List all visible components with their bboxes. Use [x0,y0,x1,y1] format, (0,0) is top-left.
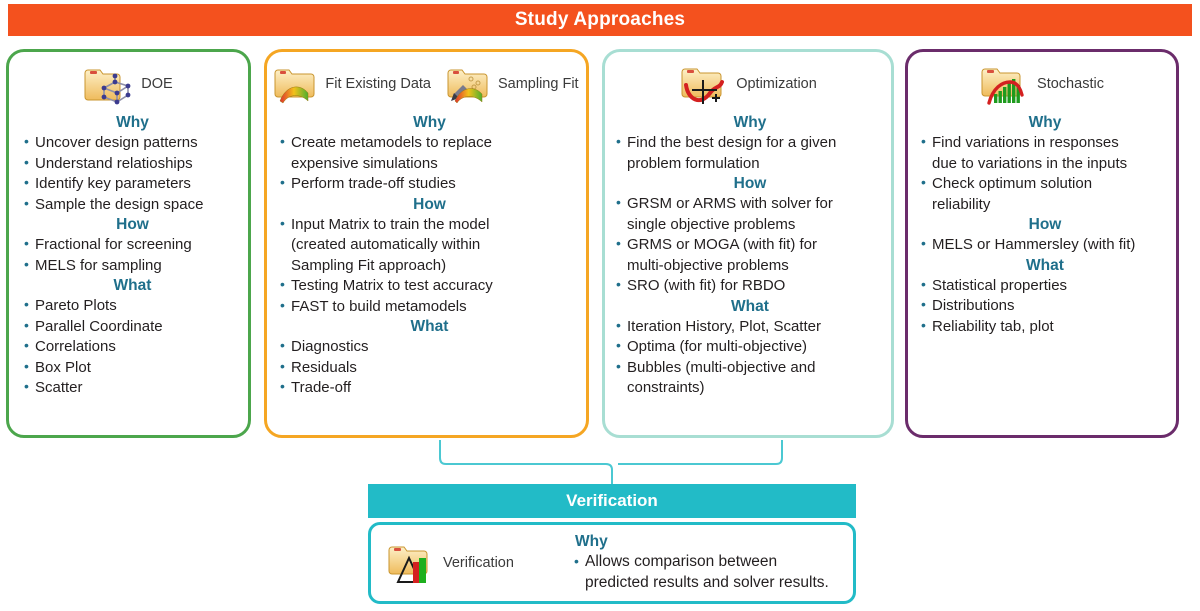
opt-why-list: Find the best design for a given problem… [615,133,885,173]
opt-how-list: GRSM or ARMS with solver for single obje… [615,194,885,296]
list-item: Iteration History, Plot, Scatter [615,317,885,337]
list-item-continuation: Sampling Fit approach) [279,256,580,276]
opt-what-list: Iteration History, Plot, Scatter Optima … [615,317,885,398]
list-item-continuation: constraints) [615,378,885,398]
opt-how-heading: How [615,175,885,193]
fit-how-heading: How [279,196,580,214]
page-title: Study Approaches [515,9,685,31]
list-item: Allows comparison between [573,552,845,572]
list-item: GRMS or MOGA (with fit) for [615,235,885,255]
verification-icon-label: Verification [443,555,514,571]
card-body-stochastic: Why Find variations in responses due to … [908,114,1176,341]
list-item-continuation: reliability [920,195,1170,215]
doe-icon-group: DOE [84,62,172,106]
fit-why-heading: Why [279,114,580,132]
card-header-stochastic: Stochastic [908,52,1176,112]
fit-why-list: Create metamodels to replace expensive s… [279,133,580,194]
list-item: FAST to build metamodels [279,297,580,317]
fit-existing-data-icon-label: Fit Existing Data [325,76,431,92]
list-item-continuation: due to variations in the inputs [920,154,1170,174]
connector-bracket [0,432,1200,492]
list-item: Find the best design for a given [615,133,885,153]
optimization-folder-icon [679,62,731,106]
verification-title-bar: Verification [368,484,856,518]
list-item: Pareto Plots [23,296,242,316]
sto-why-list: Find variations in responses due to vari… [920,133,1170,214]
list-item: Sample the design space [23,195,242,215]
list-item-continuation: predicted results and solver results. [573,573,845,593]
fit-what-list: Diagnostics Residuals Trade-off [279,337,580,398]
list-item: Trade-off [279,378,580,398]
card-header-fit: Fit Existing Data [267,52,586,112]
list-item: Uncover design patterns [23,133,242,153]
verification-title: Verification [566,491,658,511]
verification-why-heading: Why [575,533,845,551]
list-item: Testing Matrix to test accuracy [279,276,580,296]
card-header-optimization: Optimization [605,52,891,112]
doe-why-list: Uncover design patterns Understand relat… [23,133,242,214]
list-item: Diagnostics [279,337,580,357]
fit-how-list: Input Matrix to train the model (created… [279,215,580,317]
list-item-continuation: problem formulation [615,154,885,174]
list-item: MELS or Hammersley (with fit) [920,235,1170,255]
list-item: Check optimum solution [920,174,1170,194]
doe-why-heading: Why [23,114,242,132]
stochastic-icon-label: Stochastic [1037,76,1104,92]
verification-folder-icon [387,540,437,586]
list-item: MELS for sampling [23,256,242,276]
verification-icon-group: Verification [379,540,573,586]
list-item: Statistical properties [920,276,1170,296]
list-item: Understand relatioships [23,154,242,174]
sampling-fit-icon-label: Sampling Fit [498,76,579,92]
optimization-icon-group: Optimization [679,62,817,106]
list-item-continuation: multi-objective problems [615,256,885,276]
doe-what-list: Pareto Plots Parallel Coordinate Correla… [23,296,242,398]
list-item: Fractional for screening [23,235,242,255]
list-item: Perform trade-off studies [279,174,580,194]
approach-card-fit[interactable]: Fit Existing Data [264,49,589,438]
list-item: Create metamodels to replace [279,133,580,153]
doe-folder-icon [84,62,136,106]
card-body-fit: Why Create metamodels to replace expensi… [267,114,586,403]
card-body-doe: Why Uncover design patterns Understand r… [9,114,248,403]
approach-card-doe[interactable]: DOE Why Uncover design patterns Understa… [6,49,251,438]
list-item: Correlations [23,337,242,357]
optimization-icon-label: Optimization [736,76,817,92]
sto-why-heading: Why [920,114,1170,132]
opt-why-heading: Why [615,114,885,132]
sampling-fit-icon-group: Sampling Fit [447,63,579,105]
list-item: Bubbles (multi-objective and [615,358,885,378]
list-item: Identify key parameters [23,174,242,194]
sto-how-list: MELS or Hammersley (with fit) [920,235,1170,255]
fit-existing-data-folder-icon [274,63,320,105]
card-body-optimization: Why Find the best design for a given pro… [605,114,891,403]
card-header-doe: DOE [9,52,248,112]
list-item: Parallel Coordinate [23,317,242,337]
list-item-continuation: expensive simulations [279,154,580,174]
opt-what-heading: What [615,298,885,316]
sampling-fit-folder-icon [447,63,493,105]
verification-content: Why Allows comparison between predicted … [573,533,845,594]
list-item: Scatter [23,378,242,398]
verification-card[interactable]: Verification Why Allows comparison betwe… [368,522,856,604]
list-item: Residuals [279,358,580,378]
sto-what-heading: What [920,257,1170,275]
fit-what-heading: What [279,318,580,336]
verification-why-list: Allows comparison between predicted resu… [573,552,845,593]
list-item-continuation: single objective problems [615,215,885,235]
stochastic-icon-group: Stochastic [980,62,1104,106]
approach-card-stochastic[interactable]: Stochastic Why Find variations in respon… [905,49,1179,438]
list-item: Box Plot [23,358,242,378]
list-item-continuation: (created automatically within [279,235,580,255]
approach-card-optimization[interactable]: Optimization Why Find the best design fo… [602,49,894,438]
list-item: Find variations in responses [920,133,1170,153]
doe-what-heading: What [23,277,242,295]
list-item: Reliability tab, plot [920,317,1170,337]
list-item: GRSM or ARMS with solver for [615,194,885,214]
doe-how-heading: How [23,216,242,234]
stochastic-folder-icon [980,62,1032,106]
study-approaches-title-bar: Study Approaches [8,4,1192,36]
list-item: SRO (with fit) for RBDO [615,276,885,296]
fit-existing-data-icon-group: Fit Existing Data [274,63,431,105]
list-item: Input Matrix to train the model [279,215,580,235]
list-item: Optima (for multi-objective) [615,337,885,357]
sto-what-list: Statistical properties Distributions Rel… [920,276,1170,337]
diagram-canvas: Study Approaches [0,0,1200,611]
sto-how-heading: How [920,216,1170,234]
list-item: Distributions [920,296,1170,316]
doe-icon-label: DOE [141,76,172,92]
doe-how-list: Fractional for screening MELS for sampli… [23,235,242,275]
